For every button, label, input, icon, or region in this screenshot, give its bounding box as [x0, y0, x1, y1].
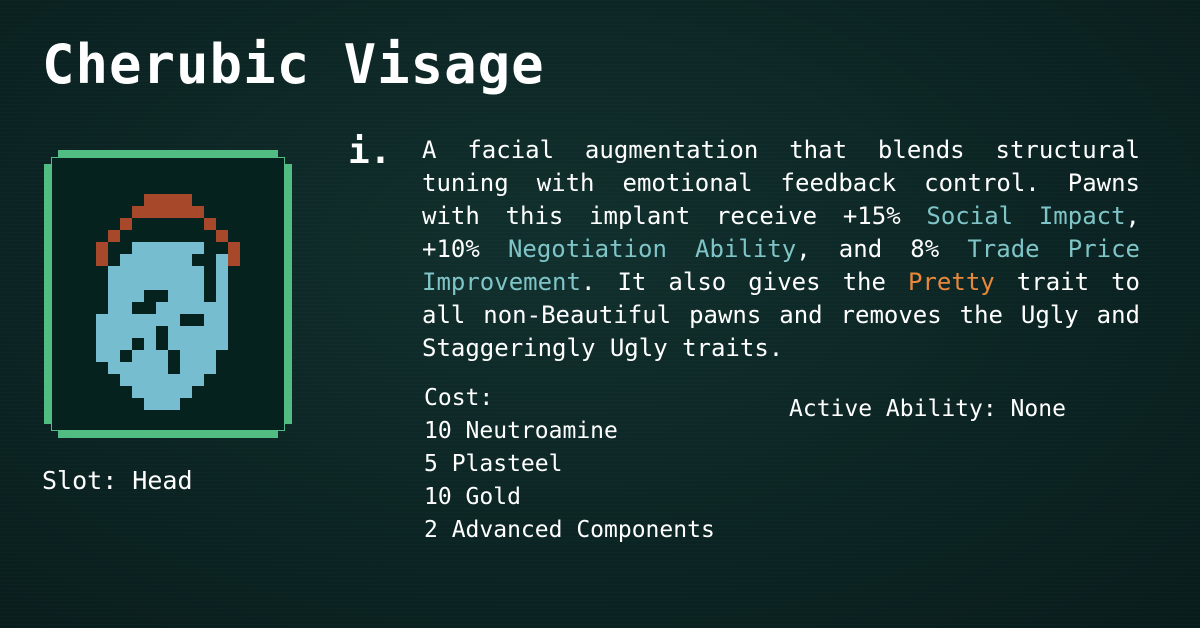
cost-item: 5 Plasteel [424, 448, 715, 481]
face-pixels [96, 242, 228, 410]
page-title: Cherubic Visage [42, 34, 545, 96]
frame-edge-bottom [58, 430, 278, 438]
cost-item: 10 Neutroamine [424, 415, 715, 448]
info-marker-icon: i. [348, 132, 391, 172]
description-text: , and 8% [796, 235, 967, 263]
cost-item: 2 Advanced Components [424, 514, 715, 547]
frame-edge-right [284, 164, 292, 424]
stat-highlight: Negotiation Ability [508, 235, 796, 263]
cost-heading: Cost: [424, 382, 715, 415]
stat-highlight: Social Impact [926, 202, 1125, 230]
item-icon-canvas [52, 158, 284, 430]
cost-block: Cost: 10 Neutroamine 5 Plasteel 10 Gold … [424, 382, 715, 547]
implant-info-card: Cherubic Visage Slot: Head i. A facial a… [0, 0, 1200, 628]
cherubic-visage-pixel-icon [60, 182, 276, 422]
description-text: . It also gives the [581, 268, 908, 296]
frame-edge-top [58, 150, 278, 158]
frame-edge-left [44, 164, 52, 424]
item-description: A facial augmentation that blends struct… [422, 134, 1140, 365]
active-ability-label: Active Ability: None [789, 393, 1066, 426]
slot-label: Slot: Head [42, 466, 193, 496]
trait-highlight: Pretty [908, 268, 995, 296]
item-icon-frame [44, 150, 292, 438]
cost-item: 10 Gold [424, 481, 715, 514]
